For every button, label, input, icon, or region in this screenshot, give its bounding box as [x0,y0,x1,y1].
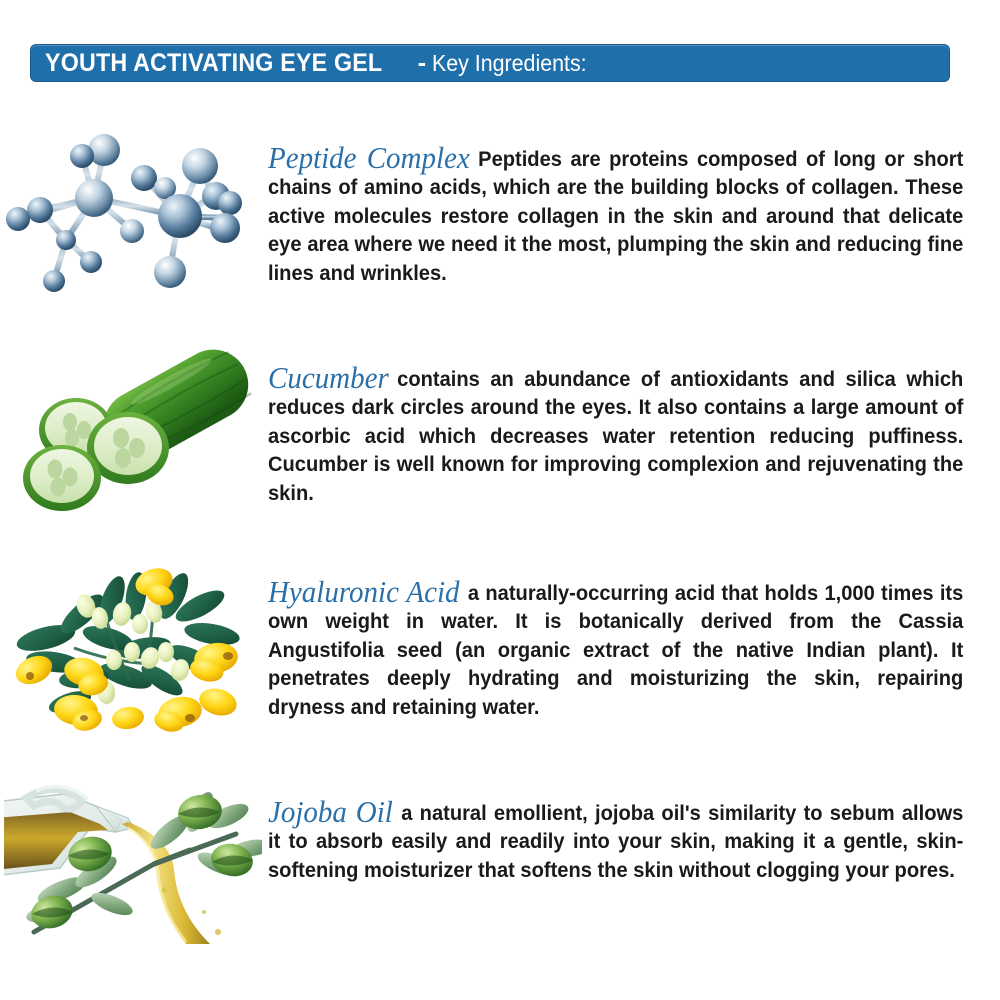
ingredient-heading-cucumber: Cucumber [268,360,397,395]
cucumber-paragraph: Cucumbercontains an abundance of antioxi… [268,360,963,508]
ingredient-heading-jojoba-oil: Jojoba Oil [268,794,401,829]
peptide-complex-paragraph: Peptide ComplexPeptides are proteins com… [268,140,963,288]
ingredients-infographic: YOUTH ACTIVATING EYE GEL - Key Ingredien… [0,0,1000,1000]
jojoba-oil-body: Jojoba Oila natural emollient, jojoba oi… [268,772,963,906]
jojoba-oil-artwork [4,772,262,952]
header-banner: YOUTH ACTIVATING EYE GEL - Key Ingredien… [30,44,950,82]
cucumber-artwork [4,338,262,518]
hyaluronic-acid-body: Hyaluronic Acida naturally-occurring aci… [268,552,963,743]
ingredient-heading-hyaluronic-acid: Hyaluronic Acid [268,574,468,609]
molecule-model-icon [4,118,262,298]
jojoba-oil-paragraph: Jojoba Oila natural emollient, jojoba oi… [268,794,963,885]
peptide-complex-artwork [4,118,262,298]
cucumber-icon [4,338,262,513]
jojoba-oil-jug-icon [4,772,262,947]
header-subtitle: Key Ingredients: [432,50,587,77]
peptide-complex-body: Peptide ComplexPeptides are proteins com… [268,118,963,309]
ingredient-heading-peptide-complex: Peptide Complex [268,140,478,175]
header-separator-dash: - [418,49,426,78]
hyaluronic-acid-paragraph: Hyaluronic Acida naturally-occurring aci… [268,574,963,722]
cucumber-body: Cucumbercontains an abundance of antioxi… [268,338,963,529]
page-title: YOUTH ACTIVATING EYE GEL [45,49,382,78]
cassia-flower-icon [4,552,262,742]
hyaluronic-acid-artwork [4,552,262,732]
